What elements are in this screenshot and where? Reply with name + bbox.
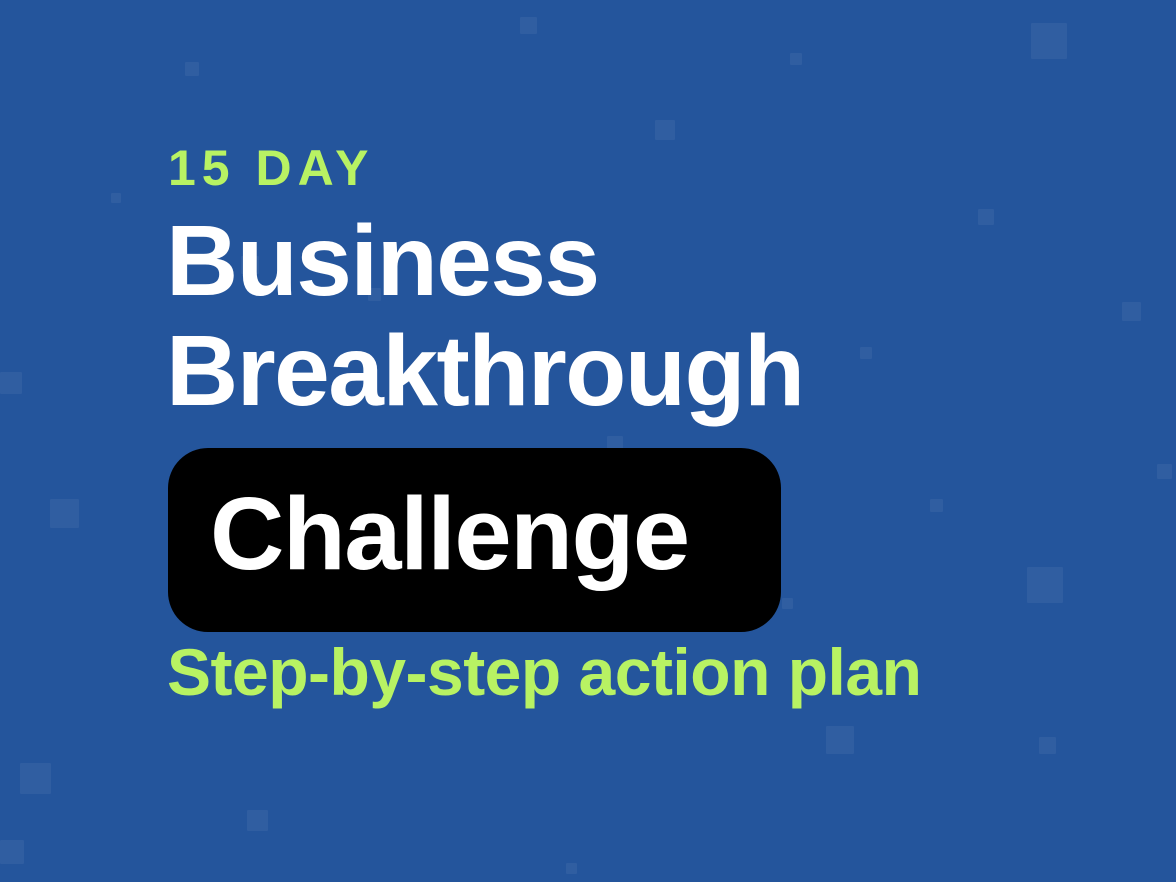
background-square [50, 499, 79, 528]
background-square [1157, 464, 1172, 479]
headline-line-2: Breakthrough [166, 322, 804, 420]
challenge-badge: Challenge [168, 448, 781, 632]
challenge-badge-label: Challenge [210, 482, 689, 585]
background-square [1122, 302, 1141, 321]
background-square [111, 193, 121, 203]
subheadline-text: Step-by-step action plan [167, 639, 921, 705]
background-square [20, 763, 51, 794]
eyebrow-text: 15 DAY [168, 143, 374, 193]
headline-line-1: Business [166, 212, 599, 310]
poster-content: 15 DAY Business Breakthrough Challenge S… [168, 0, 1068, 882]
poster-canvas: 15 DAY Business Breakthrough Challenge S… [0, 0, 1176, 882]
background-square [0, 840, 24, 864]
background-square [0, 372, 22, 394]
